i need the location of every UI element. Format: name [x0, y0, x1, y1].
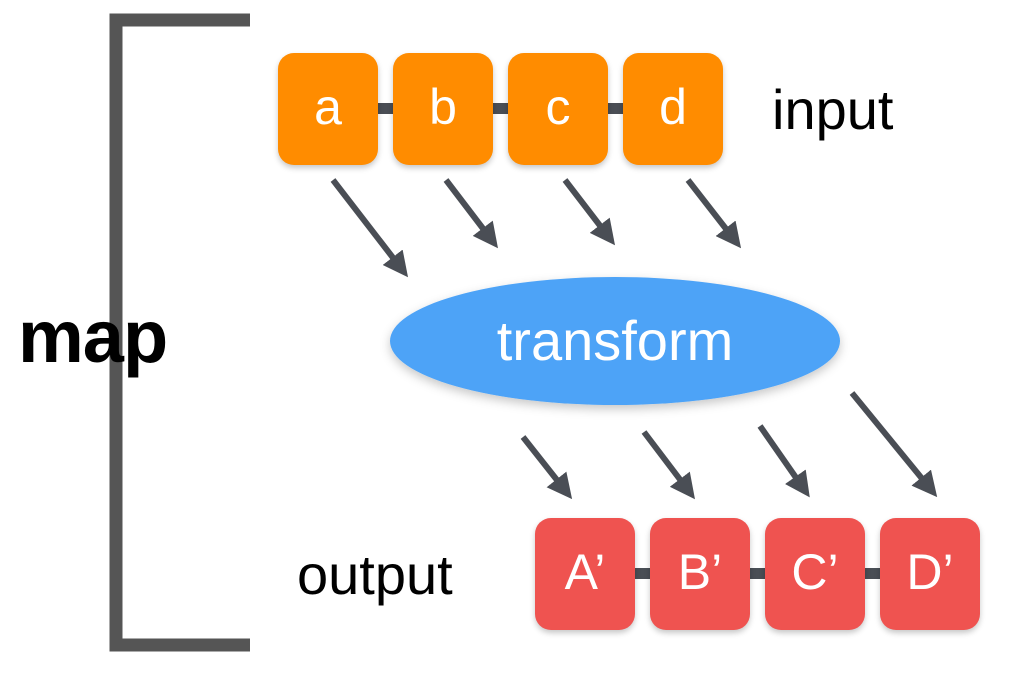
arrow-input-c-to-transform	[565, 180, 611, 240]
output-node-c[interactable]: C’	[765, 518, 865, 630]
output-row-label: output	[297, 547, 453, 603]
arrow-transform-to-output-a	[523, 437, 568, 494]
output-node-d-label: D’	[906, 547, 953, 597]
arrow-transform-to-output-d	[852, 393, 933, 492]
output-node-a[interactable]: A’	[535, 518, 635, 630]
output-node-b-label: B’	[678, 547, 722, 597]
input-node-d-label: d	[659, 82, 687, 132]
page-title: map	[18, 300, 167, 374]
input-node-c[interactable]: c	[508, 53, 608, 165]
arrow-input-d-to-transform	[688, 180, 737, 243]
input-node-c-label: c	[546, 82, 571, 132]
input-node-a[interactable]: a	[278, 53, 378, 165]
input-node-a-label: a	[314, 82, 342, 132]
arrow-transform-to-output-b	[644, 432, 691, 494]
output-node-b[interactable]: B’	[650, 518, 750, 630]
output-node-c-label: C’	[791, 547, 838, 597]
input-node-d[interactable]: d	[623, 53, 723, 165]
arrow-input-b-to-transform	[446, 180, 494, 243]
arrow-transform-to-output-c	[760, 426, 806, 492]
input-node-b[interactable]: b	[393, 53, 493, 165]
diagram-canvas: map a b c d input transform output A’ B’…	[0, 0, 1020, 680]
output-node-d[interactable]: D’	[880, 518, 980, 630]
input-row-label: input	[772, 82, 893, 138]
output-node-a-label: A’	[565, 547, 606, 597]
transform-label: transform	[390, 313, 840, 369]
arrow-input-a-to-transform	[333, 180, 404, 272]
input-node-b-label: b	[429, 82, 457, 132]
